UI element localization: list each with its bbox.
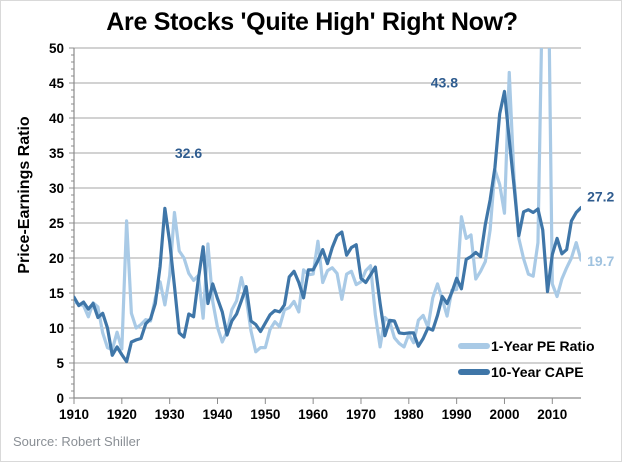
x-axis-tick-label: 1930 bbox=[155, 407, 185, 422]
data-label: 32.6 bbox=[175, 145, 202, 161]
y-axis-tick-label: 50 bbox=[49, 41, 64, 56]
chart-plot: 0510152025303540455019101920193019401950… bbox=[1, 1, 622, 462]
x-axis-tick-label: 1970 bbox=[346, 407, 376, 422]
y-axis-tick-label: 35 bbox=[49, 146, 65, 161]
y-axis-tick-label: 0 bbox=[56, 391, 64, 406]
data-label: 27.2 bbox=[587, 189, 614, 205]
y-axis-tick-label: 40 bbox=[49, 111, 64, 126]
data-label: 19.7 bbox=[587, 253, 614, 269]
x-axis-tick-label: 1950 bbox=[250, 407, 280, 422]
y-axis-tick-label: 45 bbox=[49, 76, 65, 91]
x-axis-tick-label: 1920 bbox=[107, 407, 137, 422]
y-axis-tick-label: 20 bbox=[49, 251, 64, 266]
legend-label: 10-Year CAPE bbox=[491, 364, 584, 380]
source-note: Source: Robert Shiller bbox=[13, 434, 140, 449]
x-axis-tick-label: 1960 bbox=[298, 407, 328, 422]
legend-label: 1-Year PE Ratio bbox=[491, 338, 595, 354]
data-label: 43.8 bbox=[431, 74, 458, 90]
x-axis-tick-label: 1990 bbox=[442, 407, 472, 422]
x-axis-tick-label: 1910 bbox=[59, 407, 89, 422]
x-axis-tick-label: 2000 bbox=[489, 407, 519, 422]
y-axis-tick-label: 30 bbox=[49, 181, 64, 196]
x-axis-tick-label: 2010 bbox=[537, 407, 567, 422]
chart-figure: Are Stocks 'Quite High' Right Now? Price… bbox=[0, 0, 622, 462]
x-axis-tick-label: 1940 bbox=[202, 407, 232, 422]
x-axis-tick-label: 1980 bbox=[394, 407, 424, 422]
y-axis-tick-label: 5 bbox=[56, 356, 64, 371]
y-axis-tick-label: 15 bbox=[49, 286, 65, 301]
y-axis-tick-label: 10 bbox=[49, 321, 64, 336]
y-axis-tick-label: 25 bbox=[49, 216, 65, 231]
